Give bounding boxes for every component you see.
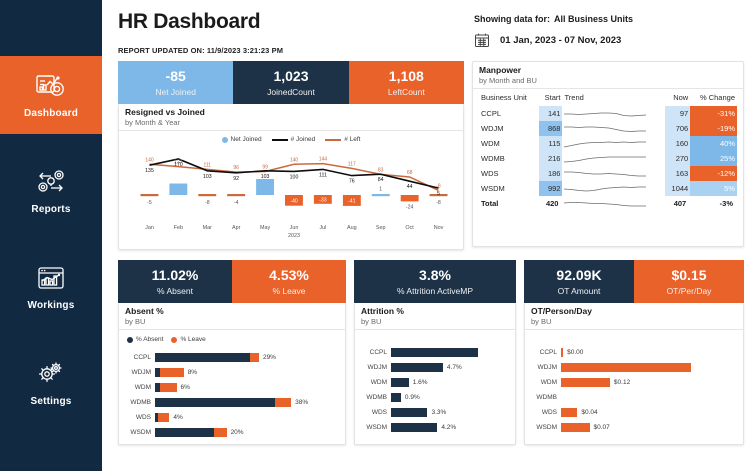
bar-segment[interactable] — [391, 393, 401, 402]
date-filter[interactable]: 01 Jan, 2023 - 07 Nov, 2023 — [474, 32, 744, 48]
bar-row[interactable]: WSDM20% — [125, 426, 339, 439]
panel-subtitle: by Month and BU — [473, 75, 743, 89]
th-trend[interactable]: Trend — [562, 91, 665, 106]
cell-now: 706 — [665, 121, 690, 136]
sidebar-item-label: Reports — [31, 204, 70, 215]
bar-segment[interactable] — [561, 423, 590, 432]
x-tick-label: Aug — [347, 225, 357, 231]
legend-label: % Absent — [136, 336, 163, 343]
bar-track: 4.2% — [391, 423, 509, 432]
line-joined-label: 100 — [290, 174, 299, 180]
panel-title: Manpower — [473, 62, 743, 75]
line-left-label: 140 — [290, 157, 299, 163]
bottom-area: 11.02% % Absent 4.53% % Leave Absent % b… — [102, 260, 752, 445]
attrition-card: Attrition % by BU CCPL7.9%WDJM4.7%WDM1.6… — [354, 303, 516, 445]
cell-trend — [562, 196, 665, 211]
line-left-label: 99 — [262, 165, 268, 171]
cell-pct-change: -3% — [690, 196, 737, 211]
cell-start: 868 — [539, 121, 563, 136]
absent-bar-rows: CCPL29%WDJM8%WDM6%WDMB38%WDS4%WSDM20% — [125, 349, 339, 439]
sidebar: Dashboard Reports — [0, 0, 102, 471]
cell-pct-change: 5% — [690, 181, 737, 196]
cell-pct-change: 40% — [690, 136, 737, 151]
bar-track: 7.9% — [391, 348, 509, 357]
sparkline-icon — [564, 108, 646, 119]
bar-segment[interactable] — [250, 353, 259, 362]
bar-row[interactable]: WDJM4.7% — [361, 361, 509, 374]
sidebar-item-workings[interactable]: Workings — [0, 248, 102, 326]
kpi-ot-per-day[interactable]: $0.15 OT/Per/Day — [634, 260, 744, 303]
table-row[interactable]: WDM11516040% — [479, 136, 737, 151]
header-left: HR Dashboard REPORT UPDATED ON: 11/9/202… — [118, 10, 470, 55]
kpi-label: JoinedCount — [237, 87, 344, 97]
bar-segment[interactable] — [561, 378, 610, 387]
browser-analytics-icon — [34, 264, 68, 294]
gears-icon — [34, 360, 68, 390]
date-range-text: 01 Jan, 2023 - 07 Nov, 2023 — [500, 35, 621, 46]
bar-category-label: CCPL — [125, 354, 155, 361]
cell-pct-change: -12% — [690, 166, 737, 181]
bar-category-label: CCPL — [361, 349, 391, 356]
top-area: -85 Net Joined 1,023 JoinedCount 1,108 L… — [102, 61, 752, 250]
bar-value-label: 7.9% — [490, 349, 505, 356]
cell-start: 420 — [539, 196, 563, 211]
th-now[interactable]: Now — [665, 91, 690, 106]
bar-value-label: 8% — [184, 369, 197, 376]
bar-value-label: 4.2% — [437, 424, 456, 431]
attrition-bar-rows: CCPL7.9%WDJM4.7%WDM1.6%WDMB0.9%WDS3.3%WS… — [361, 344, 509, 434]
panel-subtitle: by BU — [525, 316, 743, 330]
bar-segment[interactable] — [561, 408, 577, 417]
kpi-label: OT Amount — [528, 286, 630, 296]
legend-line-icon — [272, 139, 288, 141]
table-header-row: Business Unit Start Trend Now % Change — [479, 91, 737, 106]
sparkline-icon — [564, 153, 646, 164]
absent-legend: % Absent % Leave — [125, 334, 339, 349]
bar-net-joined[interactable] — [256, 179, 274, 195]
bar-category-label: WSDM — [531, 424, 561, 431]
cell-pct-change: -31% — [690, 106, 737, 121]
bar-track: $0.07 — [561, 423, 737, 432]
sidebar-item-label: Dashboard — [24, 108, 78, 119]
bar-category-label: WDS — [125, 414, 155, 421]
panel-title: Absent % — [119, 303, 345, 316]
ot-chart[interactable]: CCPL$0.00WDJM$0.32WDM$0.12WDMBWDS$0.04WS… — [525, 330, 743, 442]
resigned-vs-joined-card: Resigned vs Joined by Month & Year Net J… — [118, 104, 464, 250]
cell-trend — [562, 151, 665, 166]
kpi-value: 1,023 — [237, 68, 344, 84]
sparkline-icon — [564, 183, 646, 194]
bar-segment[interactable] — [160, 383, 176, 392]
ot-bar-rows: CCPL$0.00WDJM$0.32WDM$0.12WDMBWDS$0.04WS… — [531, 344, 737, 434]
cell-business-unit: WDMB — [479, 151, 539, 166]
bar-track: 8% — [155, 368, 339, 377]
bar-category-label: WSDM — [361, 424, 391, 431]
cell-now: 407 — [665, 196, 690, 211]
header-filters: Showing data for:All Business Units — [470, 10, 744, 55]
bar-category-label: WDM — [125, 384, 155, 391]
bar-value-label: 6% — [177, 384, 190, 391]
x-tick-label: Apr — [232, 225, 241, 231]
kpi-joined-count[interactable]: 1,023 JoinedCount — [233, 61, 348, 104]
legend-item-leave[interactable]: % Leave — [171, 336, 205, 343]
chart-legend: Net Joined # Joined # Left — [123, 133, 459, 143]
bar-row[interactable]: WDM$0.12 — [531, 376, 737, 389]
bar-value-label: -40 — [290, 199, 298, 205]
line-joined-label: 92 — [233, 176, 239, 182]
bar-value-label: 4% — [169, 414, 182, 421]
x-tick-label: Feb — [174, 225, 183, 231]
x-tick-label: Oct — [405, 225, 414, 231]
cell-trend — [562, 181, 665, 196]
kpi-label: LeftCount — [353, 87, 460, 97]
bar-track: 0.9% — [391, 393, 509, 402]
legend-item-left[interactable]: # Left — [325, 136, 360, 143]
manpower-table: Business Unit Start Trend Now % Change C… — [479, 91, 737, 211]
bar-segment[interactable] — [561, 363, 691, 372]
cell-business-unit: WDJM — [479, 121, 539, 136]
report-updated-text: REPORT UPDATED ON: 11/9/2023 3:21:23 PM — [118, 46, 470, 55]
bar-track: 4.7% — [391, 363, 509, 372]
cell-now: 163 — [665, 166, 690, 181]
line-left-label: 144 — [319, 157, 328, 163]
cell-trend — [562, 121, 665, 136]
bar-row[interactable]: CCPL$0.00 — [531, 346, 737, 359]
bar-category-label: WDJM — [361, 364, 391, 371]
bar-value-label: 60 — [262, 201, 268, 207]
line-joined-label: 103 — [261, 174, 270, 180]
th-start[interactable]: Start — [539, 91, 563, 106]
kpi-label: % Absent — [122, 286, 228, 296]
bar-segment[interactable] — [155, 398, 275, 407]
sidebar-item-label: Settings — [30, 396, 71, 407]
workflow-gears-icon — [34, 168, 68, 198]
showing-value: All Business Units — [554, 14, 633, 24]
bar-value-label: 43 — [176, 199, 182, 205]
bar-segment[interactable] — [391, 408, 427, 417]
bar-row[interactable]: WDM6% — [125, 381, 339, 394]
sidebar-item-settings[interactable]: Settings — [0, 344, 102, 422]
bar-value-label: -24 — [406, 204, 414, 210]
absent-chart[interactable]: % Absent % Leave CCPL29%WDJM8%WDM6%WDMB3… — [119, 330, 345, 447]
line-joined-label: 103 — [203, 174, 212, 180]
sparkline-icon — [564, 138, 646, 149]
x-tick-label: May — [260, 225, 270, 231]
attrition-chart[interactable]: CCPL7.9%WDJM4.7%WDM1.6%WDMB0.9%WDS3.3%WS… — [355, 330, 515, 442]
bar-value-label: 1 — [379, 187, 382, 193]
bar-value-label: -33 — [319, 198, 327, 204]
legend-item-net-joined[interactable]: Net Joined — [222, 136, 262, 143]
cell-trend — [562, 136, 665, 151]
th-business-unit[interactable]: Business Unit — [479, 91, 539, 106]
cell-business-unit: WDS — [479, 166, 539, 181]
bar-value-label: -5 — [147, 200, 152, 206]
line-left-label: 96 — [233, 165, 239, 171]
panel-subtitle: by Month & Year — [119, 117, 463, 131]
bar-segment[interactable] — [391, 378, 409, 387]
bar-row[interactable]: WSDM$0.07 — [531, 421, 737, 434]
bar-category-label: CCPL — [531, 349, 561, 356]
kpi-net-joined[interactable]: -85 Net Joined — [118, 61, 233, 104]
showing-label: Showing data for: — [474, 14, 550, 24]
bar-track: 38% — [155, 398, 339, 407]
bar-net-joined[interactable] — [198, 194, 216, 196]
bar-row[interactable]: WDMB0.9% — [361, 391, 509, 404]
line-left-label: 83 — [378, 167, 384, 173]
panel-title: OT/Person/Day — [525, 303, 743, 316]
manpower-card: Manpower by Month and BU Business Unit S… — [472, 61, 744, 247]
legend-dot-icon — [171, 337, 177, 343]
bar-category-label: WDJM — [531, 364, 561, 371]
manpower-panel: Manpower by Month and BU Business Unit S… — [472, 61, 744, 250]
x-axis-year: 2023 — [288, 233, 300, 239]
hr-dashboard-app: Dashboard Reports — [0, 0, 752, 471]
bar-value-label: $0.07 — [590, 424, 610, 431]
bar-segment[interactable] — [155, 353, 250, 362]
bar-track: 20% — [155, 428, 339, 437]
bar-track: 29% — [155, 353, 339, 362]
kpi-pct-attrition[interactable]: 3.8% % Attrition ActiveMP — [354, 260, 516, 303]
bar-track: $0.32 — [561, 363, 737, 372]
table-row[interactable]: WDMB21627025% — [479, 151, 737, 166]
bar-row[interactable]: WDJM$0.32 — [531, 361, 737, 374]
bar-value-label: 3.3% — [427, 409, 446, 416]
bar-track: $0.04 — [561, 408, 737, 417]
x-tick-label: Sep — [376, 225, 386, 231]
resigned-vs-joined-chart[interactable]: Net Joined # Joined # Left — [119, 131, 463, 249]
bar-track: 6% — [155, 383, 339, 392]
cell-start: 141 — [539, 106, 563, 121]
ot-kpi-row: 92.09K OT Amount $0.15 OT/Per/Day — [524, 260, 744, 303]
line-joined-label: 111 — [319, 172, 327, 178]
bar-value-label: 4.7% — [443, 364, 462, 371]
resigned-vs-joined-panel: -85 Net Joined 1,023 JoinedCount 1,108 L… — [118, 61, 464, 250]
bar-net-joined[interactable] — [141, 194, 159, 196]
combo-chart-svg: -543-8-460-40-33-411-24-8140127111969914… — [123, 143, 461, 239]
bar-track: $0.12 — [561, 378, 737, 387]
cell-now: 160 — [665, 136, 690, 151]
bar-segment[interactable] — [391, 348, 478, 357]
kpi-value: $0.15 — [638, 267, 740, 283]
table-row[interactable]: WDS186163-12% — [479, 166, 737, 181]
attrition-kpi-row: 3.8% % Attrition ActiveMP — [354, 260, 516, 303]
legend-dot-icon — [222, 137, 228, 143]
page-title: HR Dashboard — [118, 10, 470, 34]
bar-category-label: WDS — [361, 409, 391, 416]
bar-row[interactable]: WDS$0.04 — [531, 406, 737, 419]
cell-pct-change: 25% — [690, 151, 737, 166]
bar-net-joined[interactable] — [401, 195, 419, 201]
bar-value-label: $0.32 — [717, 364, 733, 371]
cell-pct-change: -19% — [690, 121, 737, 136]
kpi-value: 3.8% — [358, 267, 512, 283]
bar-category-label: WDM — [531, 379, 561, 386]
bar-segment[interactable] — [160, 368, 183, 377]
kpi-label: Net Joined — [122, 87, 229, 97]
header: HR Dashboard REPORT UPDATED ON: 11/9/202… — [102, 0, 752, 59]
bar-segment[interactable] — [275, 398, 291, 407]
cell-now: 97 — [665, 106, 690, 121]
panel-subtitle: by BU — [355, 316, 515, 330]
bar-category-label: WDS — [531, 409, 561, 416]
cell-start: 115 — [539, 136, 563, 151]
line-joined-label: 76 — [349, 179, 355, 185]
bar-value-label: 0.9% — [401, 394, 420, 401]
ot-card: OT/Person/Day by BU CCPL$0.00WDJM$0.32WD… — [524, 303, 744, 445]
cell-business-unit: WSDM — [479, 181, 539, 196]
bar-row[interactable]: WDM1.6% — [361, 376, 509, 389]
legend-label: % Leave — [180, 336, 205, 343]
kpi-pct-absent[interactable]: 11.02% % Absent — [118, 260, 232, 303]
bar-category-label: WDM — [361, 379, 391, 386]
bar-value-label: $0.00 — [563, 349, 583, 356]
bar-row[interactable]: WDMB38% — [125, 396, 339, 409]
line-left-label: -8 — [436, 183, 441, 189]
cell-business-unit: CCPL — [479, 106, 539, 121]
line-left-label: 140 — [145, 157, 154, 163]
cell-trend — [562, 166, 665, 181]
bar-net-joined[interactable] — [169, 184, 187, 196]
cell-business-unit: WDM — [479, 136, 539, 151]
bar-row[interactable]: WDS3.3% — [361, 406, 509, 419]
legend-item-absent[interactable]: % Absent — [127, 336, 163, 343]
cell-start: 186 — [539, 166, 563, 181]
panel-subtitle: by BU — [119, 316, 345, 330]
bar-value-label: -8 — [436, 200, 441, 206]
cell-start: 216 — [539, 151, 563, 166]
bar-value-label: -8 — [205, 200, 210, 206]
kpi-value: 4.53% — [236, 267, 342, 283]
x-tick-label: Jul — [319, 225, 326, 231]
line-joined-label: 84 — [378, 177, 384, 183]
bar-value-label: $0.12 — [610, 379, 630, 386]
bar-value-label: 20% — [227, 429, 244, 436]
sparkline-icon — [564, 168, 646, 179]
bar-segment[interactable] — [214, 428, 227, 437]
bar-category-label: WDMB — [361, 394, 391, 401]
cell-start: 992 — [539, 181, 563, 196]
th-pct-change[interactable]: % Change — [690, 91, 737, 106]
kpi-label: OT/Per/Day — [638, 286, 740, 296]
table-row[interactable]: WSDM99210445% — [479, 181, 737, 196]
kpi-value: 11.02% — [122, 267, 228, 283]
legend-dot-icon — [127, 337, 133, 343]
manpower-table-rows: CCPL14197-31%WDJM868706-19%WDM11516040%W… — [479, 106, 737, 211]
kpi-value: 92.09K — [528, 267, 630, 283]
bar-net-joined[interactable] — [227, 194, 245, 196]
bar-track: $0.00 — [561, 348, 737, 357]
manpower-table-body: Business Unit Start Trend Now % Change C… — [473, 89, 743, 215]
cell-now: 1044 — [665, 181, 690, 196]
bar-category-label: WDMB — [125, 399, 155, 406]
sidebar-item-label: Workings — [28, 300, 75, 311]
bar-row[interactable]: CCPL29% — [125, 351, 339, 364]
bar-segment[interactable] — [158, 413, 169, 422]
absent-card: Absent % by BU % Absent % Leave — [118, 303, 346, 445]
x-tick-label: Nov — [434, 225, 444, 231]
sparkline-icon — [564, 123, 646, 134]
showing-data-for[interactable]: Showing data for:All Business Units — [474, 14, 744, 24]
kpi-value: 1,108 — [353, 68, 460, 84]
bar-category-label: WDMB — [531, 394, 561, 401]
bar-track: 1.6% — [391, 378, 509, 387]
line-left-label: 117 — [348, 161, 356, 167]
combo-chart-plot: -543-8-460-40-33-411-24-8140127111969914… — [123, 143, 459, 239]
panel-title: Resigned vs Joined — [119, 104, 463, 117]
x-tick-label: Jun — [290, 225, 299, 231]
table-row[interactable]: CCPL14197-31% — [479, 106, 737, 121]
x-tick-label: Mar — [203, 225, 212, 231]
bar-value-label: 1.6% — [409, 379, 428, 386]
line-left-label: 68 — [407, 170, 413, 176]
kpi-label: % Leave — [236, 286, 342, 296]
dashboard-chart-icon — [34, 72, 68, 102]
absent-kpi-row: 11.02% % Absent 4.53% % Leave — [118, 260, 346, 303]
bar-track: 3.3% — [391, 408, 509, 417]
table-row-total: Total420407-3% — [479, 196, 737, 211]
bar-value-label: $0.04 — [577, 409, 597, 416]
bar-value-label: 29% — [259, 354, 276, 361]
sidebar-item-reports[interactable]: Reports — [0, 152, 102, 230]
x-tick-label: Jan — [145, 225, 154, 231]
legend-line-icon — [325, 139, 341, 141]
ot-panel: 92.09K OT Amount $0.15 OT/Per/Day OT/Per… — [524, 260, 744, 445]
bar-segment[interactable] — [391, 363, 443, 372]
bar-segment[interactable] — [391, 423, 437, 432]
line-left-label: 111 — [203, 162, 211, 168]
sidebar-item-dashboard[interactable]: Dashboard — [0, 56, 102, 134]
kpi-pct-leave[interactable]: 4.53% % Leave — [232, 260, 346, 303]
bar-value-label: 38% — [291, 399, 308, 406]
calendar-icon — [474, 32, 490, 48]
kpi-left-count[interactable]: 1,108 LeftCount — [349, 61, 464, 104]
bar-track: 4% — [155, 413, 339, 422]
bar-row[interactable]: CCPL7.9% — [361, 346, 509, 359]
line-joined-label: 170 — [174, 162, 183, 168]
panel-title: Attrition % — [355, 303, 515, 316]
line-joined-label: 5 — [437, 191, 440, 197]
attrition-panel: 3.8% % Attrition ActiveMP Attrition % by… — [354, 260, 516, 445]
top-kpi-row: -85 Net Joined 1,023 JoinedCount 1,108 L… — [118, 61, 464, 104]
bar-track — [561, 393, 737, 402]
bar-segment[interactable] — [155, 428, 214, 437]
bar-row[interactable]: WSDM4.2% — [361, 421, 509, 434]
bar-category-label: WSDM — [125, 429, 155, 436]
line-joined-label: 44 — [407, 184, 413, 190]
kpi-label: % Attrition ActiveMP — [358, 286, 512, 296]
main-content: HR Dashboard REPORT UPDATED ON: 11/9/202… — [102, 0, 752, 471]
bar-row[interactable]: WDS4% — [125, 411, 339, 424]
line-joined-label: 135 — [145, 168, 154, 174]
bar-row[interactable]: WDMB — [531, 391, 737, 404]
kpi-ot-amount[interactable]: 92.09K OT Amount — [524, 260, 634, 303]
legend-label: # Joined — [291, 136, 316, 143]
bar-value-label: -41 — [348, 199, 356, 205]
legend-label: # Left — [344, 136, 360, 143]
legend-label: Net Joined — [231, 136, 262, 143]
cell-business-unit: Total — [479, 196, 539, 211]
sparkline-icon — [564, 198, 646, 209]
cell-now: 270 — [665, 151, 690, 166]
legend-item-joined[interactable]: # Joined — [272, 136, 316, 143]
cell-trend — [562, 106, 665, 121]
bar-row[interactable]: WDJM8% — [125, 366, 339, 379]
manpower-table-head: Business Unit Start Trend Now % Change — [479, 91, 737, 106]
bar-value-label: -4 — [234, 200, 239, 206]
table-row[interactable]: WDJM868706-19% — [479, 121, 737, 136]
bar-net-joined[interactable] — [372, 194, 390, 196]
absent-panel: 11.02% % Absent 4.53% % Leave Absent % b… — [118, 260, 346, 445]
